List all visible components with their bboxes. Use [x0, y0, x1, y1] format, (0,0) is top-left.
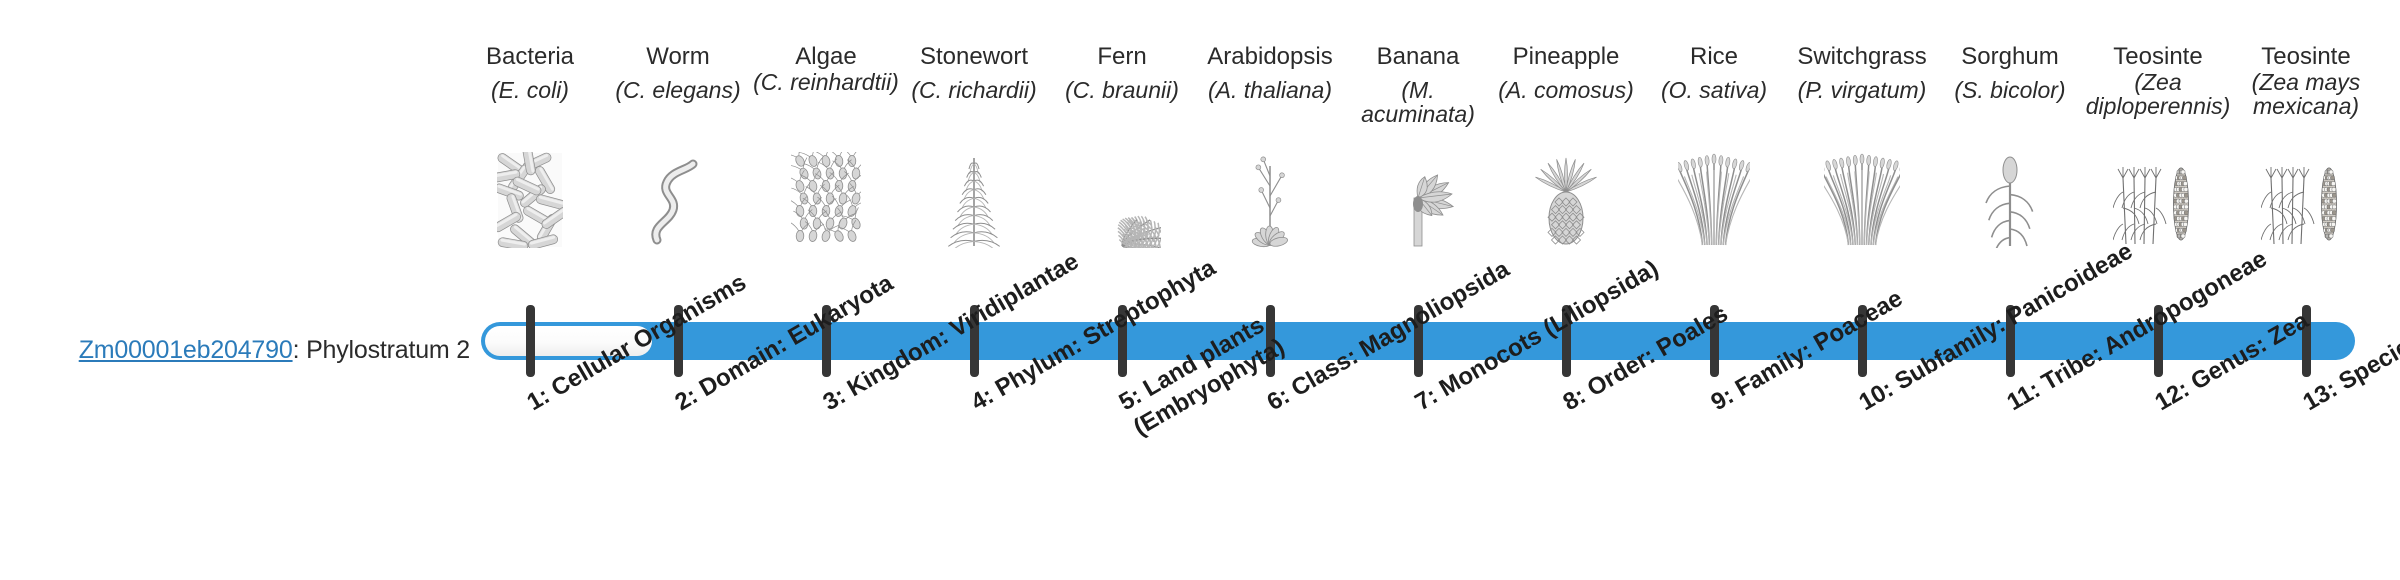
- teosinte-icon: [2232, 148, 2380, 248]
- teosinte-icon: [2084, 148, 2232, 248]
- species-common-name: Stonewort: [900, 44, 1048, 70]
- species-scientific-name: (P. virgatum): [1788, 78, 1936, 102]
- banana-icon: [1344, 148, 1492, 248]
- phylostratum-track: Bacteria(E. coli): [481, 0, 2355, 580]
- fern-icon: [1048, 148, 1196, 248]
- maize-icon: [2380, 148, 2400, 248]
- species-common-name: Rice: [1640, 44, 1788, 70]
- worm-icon: [604, 148, 752, 248]
- gene-id-link[interactable]: Zm00001eb204790: [79, 336, 293, 364]
- species-common-name: Banana: [1344, 44, 1492, 70]
- species-scientific-name: (C. braunii): [1048, 78, 1196, 102]
- species-common-name: Algae: [752, 44, 900, 70]
- phylostratum-value-text: Phylostratum 2: [306, 336, 470, 364]
- species-scientific-name: (Zea mays mexicana): [2232, 70, 2380, 118]
- species-scientific-name: (Zea diploperennis): [2084, 70, 2232, 118]
- gene-label-separator: :: [293, 336, 307, 364]
- bacteria-icon: [456, 148, 604, 248]
- phylostratum-tick[interactable]: [526, 305, 535, 377]
- sorghum-icon: [1936, 148, 2084, 248]
- species-scientific-name: (C. reinhardtii): [752, 70, 900, 94]
- algae-icon: [752, 148, 900, 248]
- species-scientific-name: (A. comosus): [1492, 78, 1640, 102]
- species-common-name: Fern: [1048, 44, 1196, 70]
- species-common-name: Switchgrass: [1788, 44, 1936, 70]
- species-common-name: Teosinte: [2232, 44, 2380, 70]
- gene-phylostratum-label: Zm00001eb204790: Phylostratum 2: [0, 336, 470, 365]
- species-common-name: Maize: [2380, 44, 2400, 70]
- species-scientific-name: (S. bicolor): [1936, 78, 2084, 102]
- species-common-name: Bacteria: [456, 44, 604, 70]
- pineapple-icon: [1492, 148, 1640, 248]
- species-common-name: Arabidopsis: [1196, 44, 1344, 70]
- rice-icon: [1640, 148, 1788, 248]
- species-common-name: Worm: [604, 44, 752, 70]
- species-scientific-name: (C. richardii): [900, 78, 1048, 102]
- species-scientific-name: (A. thaliana): [1196, 78, 1344, 102]
- species-common-name: Teosinte: [2084, 44, 2232, 70]
- species-scientific-name: (O. sativa): [1640, 78, 1788, 102]
- species-scientific-name: (C. elegans): [604, 78, 752, 102]
- species-scientific-name: (Zea mays mays): [2380, 78, 2400, 126]
- species-scientific-name: (E. coli): [456, 78, 604, 102]
- arabidopsis-icon: [1196, 148, 1344, 248]
- switchgrass-icon: [1788, 148, 1936, 248]
- species-common-name: Pineapple: [1492, 44, 1640, 70]
- species-common-name: Sorghum: [1936, 44, 2084, 70]
- species-scientific-name: (M. acuminata): [1344, 78, 1492, 126]
- stonewort-icon: [900, 148, 1048, 248]
